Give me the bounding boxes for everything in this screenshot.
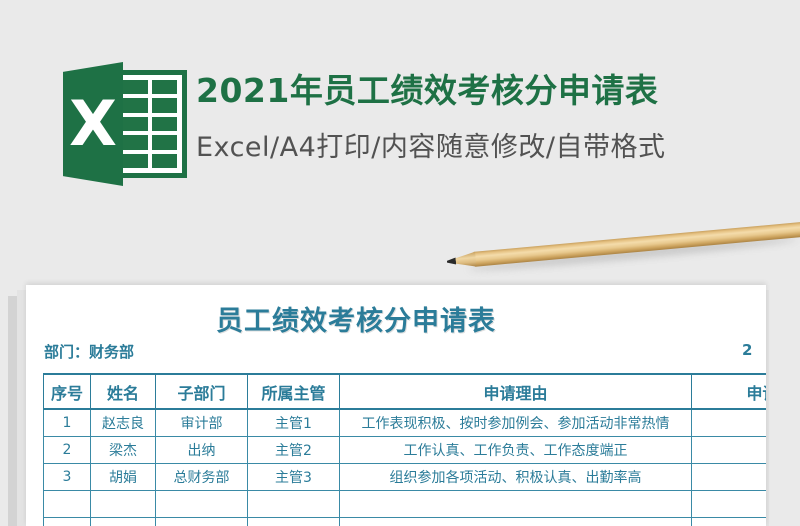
cell-reason[interactable]: 工作认真、工作负责、工作态度端正 [340, 437, 692, 464]
column-header-score[interactable]: 申请 [692, 374, 767, 409]
cell-no[interactable]: 2 [44, 437, 91, 464]
table-row[interactable]: 1 赵志良 审计部 主管1 工作表现积极、按时参加例会、参加活动非常热情 [44, 409, 767, 437]
cell-no[interactable] [44, 518, 91, 526]
banner-title: 2021年员工绩效考核分申请表 [196, 70, 786, 112]
cell-score[interactable] [692, 437, 767, 464]
cell-subdept[interactable] [156, 491, 248, 518]
cell-no[interactable]: 1 [44, 409, 91, 437]
column-header-reason[interactable]: 申请理由 [340, 374, 692, 409]
table-row[interactable]: 2 梁杰 出纳 主管2 工作认真、工作负责、工作态度端正 [44, 437, 767, 464]
excel-logo-icon: X [63, 62, 188, 186]
cell-manager[interactable] [248, 518, 340, 526]
cell-score[interactable] [692, 518, 767, 526]
cell-subdept[interactable]: 审计部 [156, 409, 248, 437]
cell-name[interactable]: 梁杰 [91, 437, 156, 464]
date-label: 2 [742, 341, 752, 359]
column-header-subdept[interactable]: 子部门 [156, 374, 248, 409]
cell-no[interactable] [44, 491, 91, 518]
table-row[interactable] [44, 518, 767, 526]
table-row[interactable]: 3 胡娟 总财务部 主管3 组织参加各项活动、积极认真、出勤率高 [44, 464, 767, 491]
sheet-title: 员工绩效考核分申请表 [26, 299, 686, 338]
excel-logo-grid [113, 70, 187, 178]
cell-name[interactable] [91, 518, 156, 526]
cell-score[interactable] [692, 491, 767, 518]
cell-score[interactable] [692, 409, 767, 437]
cell-name[interactable]: 赵志良 [91, 409, 156, 437]
table-row[interactable] [44, 491, 767, 518]
cell-reason[interactable]: 组织参加各项活动、积极认真、出勤率高 [340, 464, 692, 491]
cell-name[interactable] [91, 491, 156, 518]
sheet-meta-row: 部门：财务部 2 [26, 341, 766, 367]
cell-reason[interactable] [340, 491, 692, 518]
cell-reason[interactable] [340, 518, 692, 526]
excel-logo-letter: X [63, 62, 123, 186]
cell-subdept[interactable]: 出纳 [156, 437, 248, 464]
cell-reason[interactable]: 工作表现积极、按时参加例会、参加活动非常热情 [340, 409, 692, 437]
column-header-no[interactable]: 序号 [44, 374, 91, 409]
performance-table: 序号 姓名 子部门 所属主管 申请理由 申请 1 赵志良 审计部 主管1 工作表… [43, 373, 766, 526]
cell-manager[interactable]: 主管3 [248, 464, 340, 491]
cell-manager[interactable]: 主管1 [248, 409, 340, 437]
cell-no[interactable]: 3 [44, 464, 91, 491]
cell-subdept[interactable]: 总财务部 [156, 464, 248, 491]
column-header-name[interactable]: 姓名 [91, 374, 156, 409]
cell-subdept[interactable] [156, 518, 248, 526]
cell-score[interactable] [692, 464, 767, 491]
cell-manager[interactable]: 主管2 [248, 437, 340, 464]
table-body: 1 赵志良 审计部 主管1 工作表现积极、按时参加例会、参加活动非常热情 2 梁… [44, 409, 767, 526]
banner-text-block: 2021年员工绩效考核分申请表 Excel/A4打印/内容随意修改/自带格式 [196, 70, 786, 167]
cell-name[interactable]: 胡娟 [91, 464, 156, 491]
excel-logo-grid-cells [123, 80, 177, 168]
cell-manager[interactable] [248, 491, 340, 518]
department-label: 部门：财务部 [44, 341, 134, 362]
column-header-manager[interactable]: 所属主管 [248, 374, 340, 409]
banner-subtitle: Excel/A4打印/内容随意修改/自带格式 [196, 129, 786, 167]
table-header-row: 序号 姓名 子部门 所属主管 申请理由 申请 [44, 374, 767, 409]
spreadsheet-sheet: 员工绩效考核分申请表 部门：财务部 2 序号 姓名 子部门 所属主管 申请理由 … [26, 285, 766, 526]
